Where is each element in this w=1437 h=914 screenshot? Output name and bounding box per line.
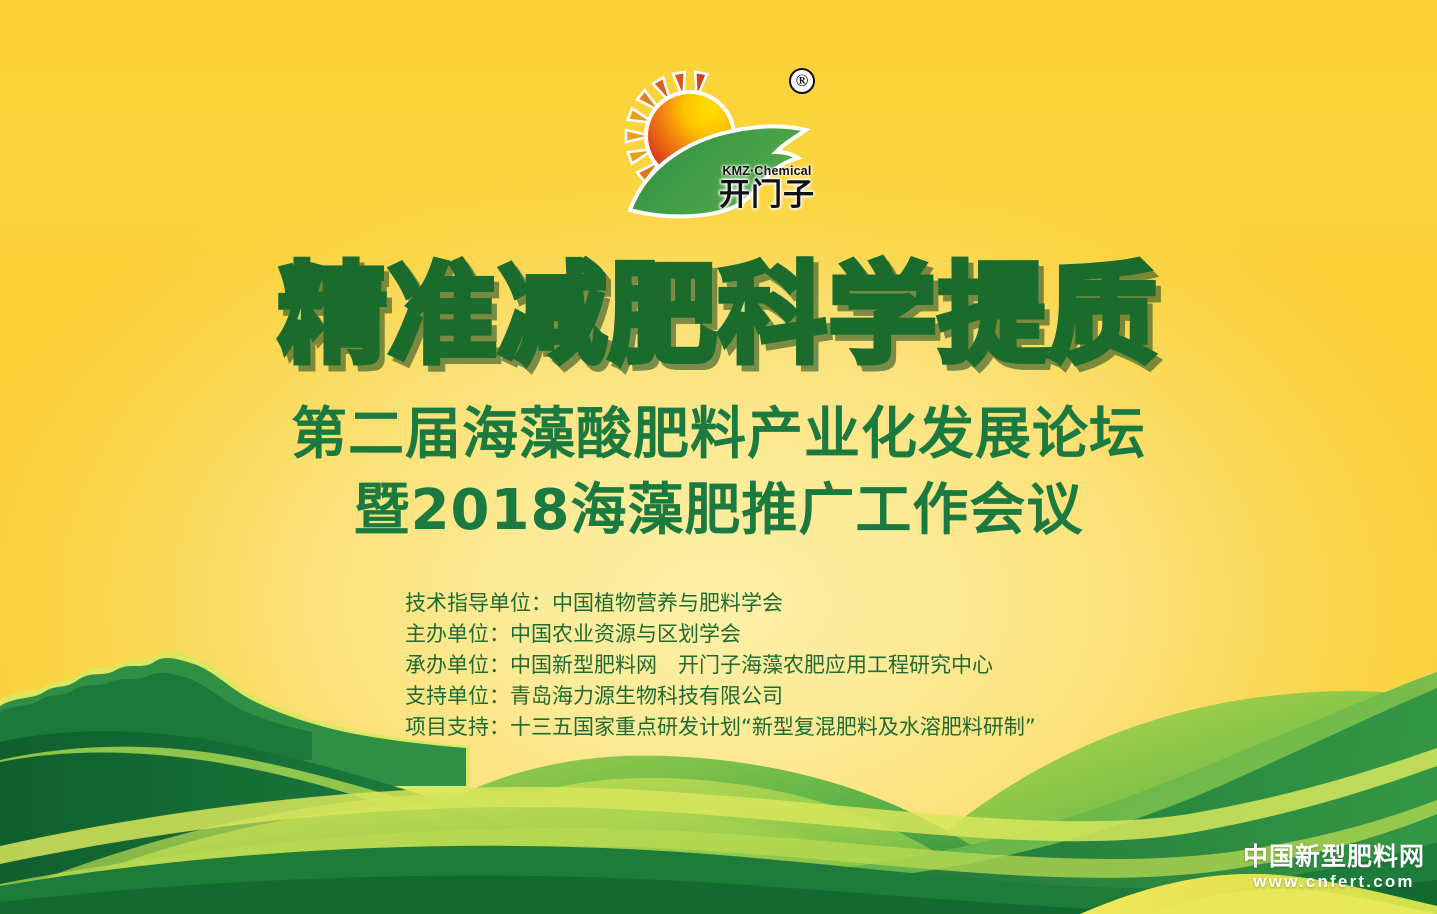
organizer-line-host: 主办单位：中国农业资源与区划学会 (405, 619, 1036, 650)
brand-logo: ® KMZ·Chemical 开门子 (0, 60, 1437, 240)
logo-chinese-name: 开门子 (711, 178, 823, 212)
site-watermark: 中国新型肥料网 www.cnfert.com (1243, 842, 1425, 892)
headline-part-1: 精准减肥 (278, 262, 718, 370)
organizer-line-project-support: 项目支持：十三五国家重点研发计划“新型复混肥料及水溶肥料研制” (405, 712, 1036, 743)
watermark-site-name: 中国新型肥料网 (1243, 842, 1425, 871)
organizer-line-organizer: 承办单位：中国新型肥料网 开门子海藻农肥应用工程研究中心 (405, 650, 1036, 681)
organizer-line-supporter: 支持单位：青岛海力源生物科技有限公司 (405, 681, 1036, 712)
registered-trademark-icon: ® (789, 68, 815, 94)
headline: 精准减肥科学提质 (0, 262, 1437, 370)
logo-english-name: KMZ·Chemical (711, 164, 823, 178)
watermark-url: www.cnfert.com (1243, 871, 1425, 892)
subtitle-line-2: 暨2018海藻肥推广工作会议 (0, 480, 1437, 542)
organizer-line-technical-guidance: 技术指导单位：中国植物营养与肥料学会 (405, 588, 1036, 619)
organizer-list: 技术指导单位：中国植物营养与肥料学会 主办单位：中国农业资源与区划学会 承办单位… (405, 588, 1036, 743)
subtitle-line-1: 第二届海藻酸肥料产业化发展论坛 (0, 404, 1437, 466)
logo-wordmark: KMZ·Chemical 开门子 (711, 164, 823, 212)
conference-poster: ® KMZ·Chemical 开门子 精准减肥科学提质 第二届海藻酸肥料产业化发… (0, 0, 1437, 914)
headline-part-2: 科学提质 (719, 262, 1159, 370)
subtitle-block: 第二届海藻酸肥料产业化发展论坛 暨2018海藻肥推广工作会议 (0, 404, 1437, 542)
logo-mark: ® KMZ·Chemical 开门子 (616, 60, 821, 240)
